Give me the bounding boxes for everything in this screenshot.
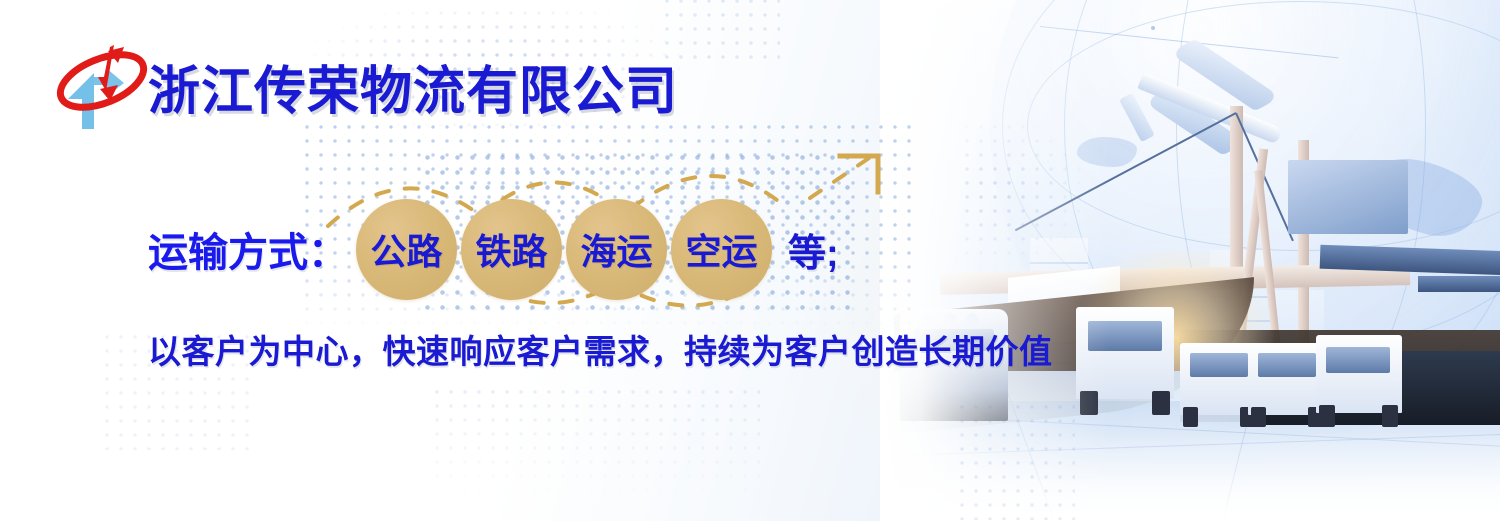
chuanrong-logistics-logo: [48, 33, 160, 141]
mode-circle-air[interactable]: 空运: [671, 199, 772, 300]
transport-label: 运输方式：: [148, 220, 348, 278]
mode-label: 公路: [370, 223, 442, 275]
transport-modes-row: 运输方式： 公路 铁路 海运 空运 等;: [148, 196, 839, 302]
tagline: 以客户为中心，快速响应客户需求，持续为客户创造长期价值: [148, 325, 1053, 373]
truck-icon: [1180, 329, 1258, 425]
company-title: 浙江传荣物流有限公司: [148, 49, 678, 124]
mode-circle-sea[interactable]: 海运: [566, 199, 667, 300]
mode-circle-railway[interactable]: 铁路: [461, 199, 562, 300]
halftone-dots: [960, 120, 1160, 300]
mode-circle-highway[interactable]: 公路: [356, 199, 457, 300]
halftone-dots: [430, 385, 760, 505]
mode-label: 空运: [685, 223, 757, 275]
truck-icon: [1316, 325, 1402, 425]
mode-label: 海运: [580, 223, 652, 275]
transport-suffix: 等;: [788, 222, 839, 277]
mode-label: 铁路: [475, 223, 547, 275]
truck-icon: [1248, 329, 1326, 425]
halftone-dots: [955, 400, 1075, 520]
logistics-banner: 浙江传荣物流有限公司 运输方式： 公路 铁路 海运 空运 等; 以客户为中心，快…: [0, 0, 1500, 521]
